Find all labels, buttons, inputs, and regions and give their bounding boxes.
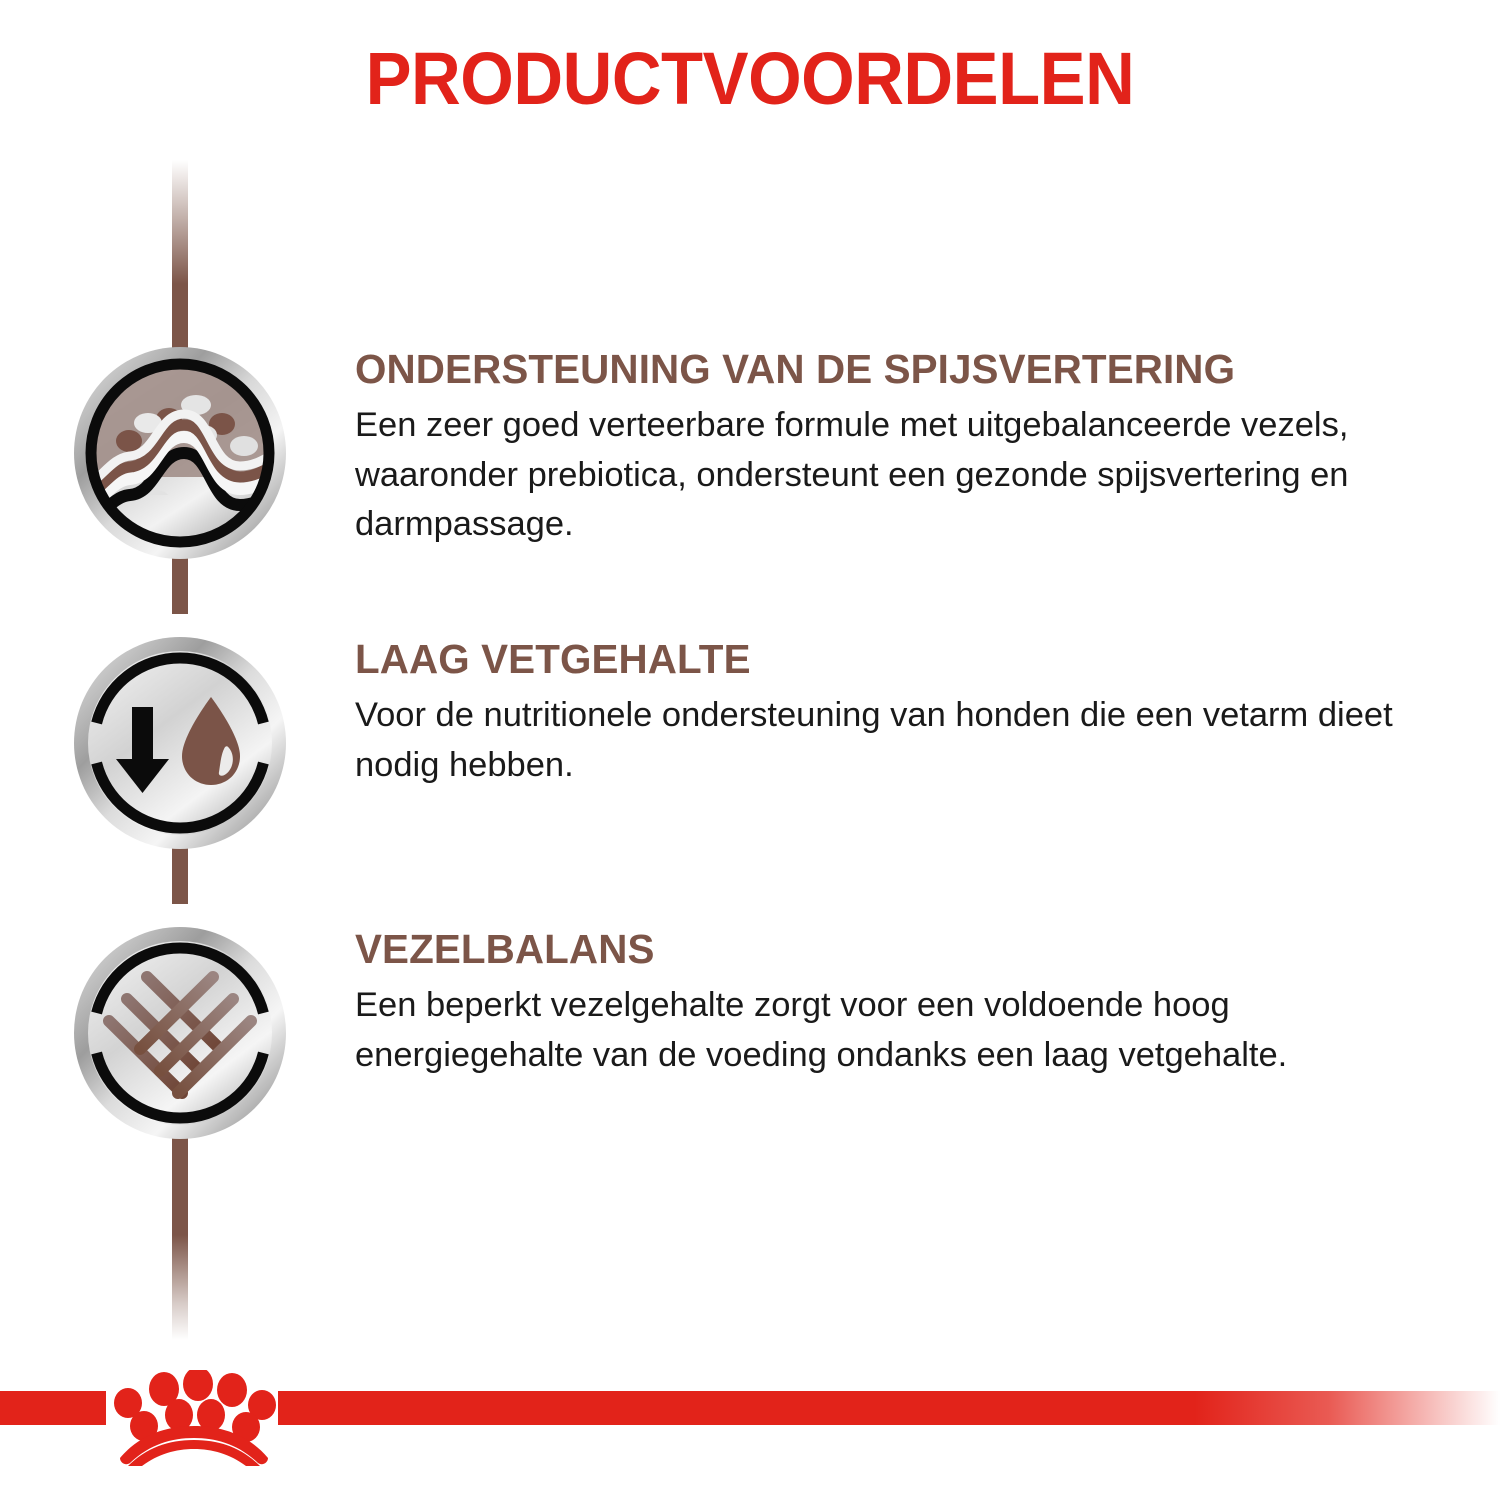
- benefit-title: ONDERSTEUNING VAN DE SPIJSVERTERING: [355, 347, 1448, 391]
- benefit-row-low-fat: LAAG VETGEHALTE Voor de nutritionele ond…: [0, 625, 1500, 855]
- footer-bar-left: [0, 1391, 106, 1425]
- benefit-body: Een beperkt vezelgehalte zorgt voor een …: [355, 981, 1465, 1080]
- timeline-segment-between-1-2: [172, 558, 188, 614]
- fibre-mesh-icon: [72, 925, 288, 1141]
- royal-canin-crown-logo: [106, 1370, 278, 1466]
- footer-bar-right: [278, 1391, 1500, 1425]
- benefit-row-digestive-support: ONDERSTEUNING VAN DE SPIJSVERTERING Een …: [0, 335, 1500, 565]
- benefit-body: Voor de nutritionele ondersteuning van h…: [355, 691, 1465, 790]
- product-benefits-page: PRODUCTVOORDELEN: [0, 0, 1500, 1500]
- timeline-segment-bottom: [172, 1138, 188, 1340]
- benefit-body: Een zeer goed verteerbare formule met ui…: [355, 401, 1445, 549]
- timeline-segment-between-2-3: [172, 848, 188, 904]
- digestive-waves-icon: [72, 345, 288, 561]
- benefit-title: VEZELBALANS: [355, 927, 1448, 971]
- benefit-row-fibre-balance: VEZELBALANS Een beperkt vezelgehalte zor…: [0, 915, 1500, 1145]
- benefit-title: LAAG VETGEHALTE: [355, 637, 1448, 681]
- low-fat-droplet-arrow-icon: [72, 635, 288, 851]
- timeline-segment-top: [172, 160, 188, 360]
- benefit-copy: ONDERSTEUNING VAN DE SPIJSVERTERING Een …: [355, 347, 1465, 549]
- benefit-copy: VEZELBALANS Een beperkt vezelgehalte zor…: [355, 927, 1465, 1080]
- benefit-copy: LAAG VETGEHALTE Voor de nutritionele ond…: [355, 637, 1465, 790]
- footer: [0, 1370, 1500, 1500]
- page-title: PRODUCTVOORDELEN: [53, 36, 1448, 121]
